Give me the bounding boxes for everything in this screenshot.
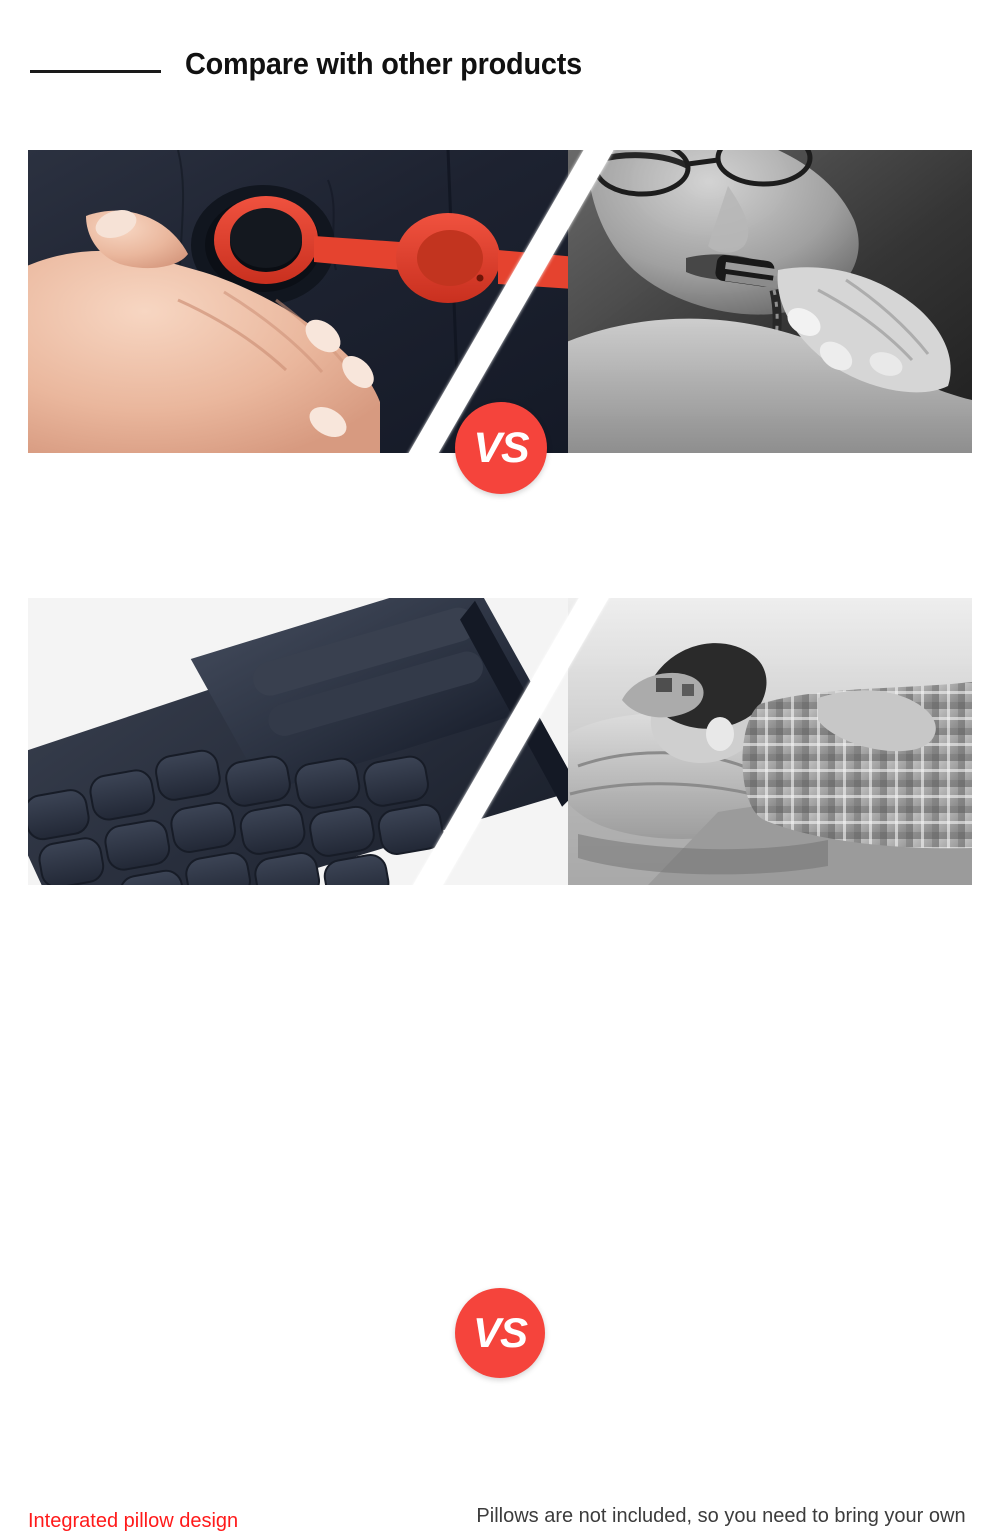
vs-badge-label: VS [473, 424, 528, 473]
caption-product-pillow: Integrated pillow design [28, 1508, 428, 1535]
competitor-photo-right [568, 150, 972, 453]
competitor-photo-right [568, 598, 972, 885]
vs-badge: VS [455, 402, 547, 494]
page-header: Compare with other products [0, 0, 1000, 120]
vs-badge-label: VS [473, 1309, 527, 1357]
man-sleeping-on-separate-pillow-illustration [568, 598, 972, 885]
caption-competitor-pillow: Pillows are not included, so you need to… [470, 1503, 972, 1530]
man-blowing-valve-illustration [568, 150, 972, 453]
title-rule-icon [30, 70, 161, 73]
page-title: Compare with other products [185, 46, 582, 82]
comparison-panel [28, 598, 972, 885]
vs-badge: VS [455, 1288, 545, 1378]
